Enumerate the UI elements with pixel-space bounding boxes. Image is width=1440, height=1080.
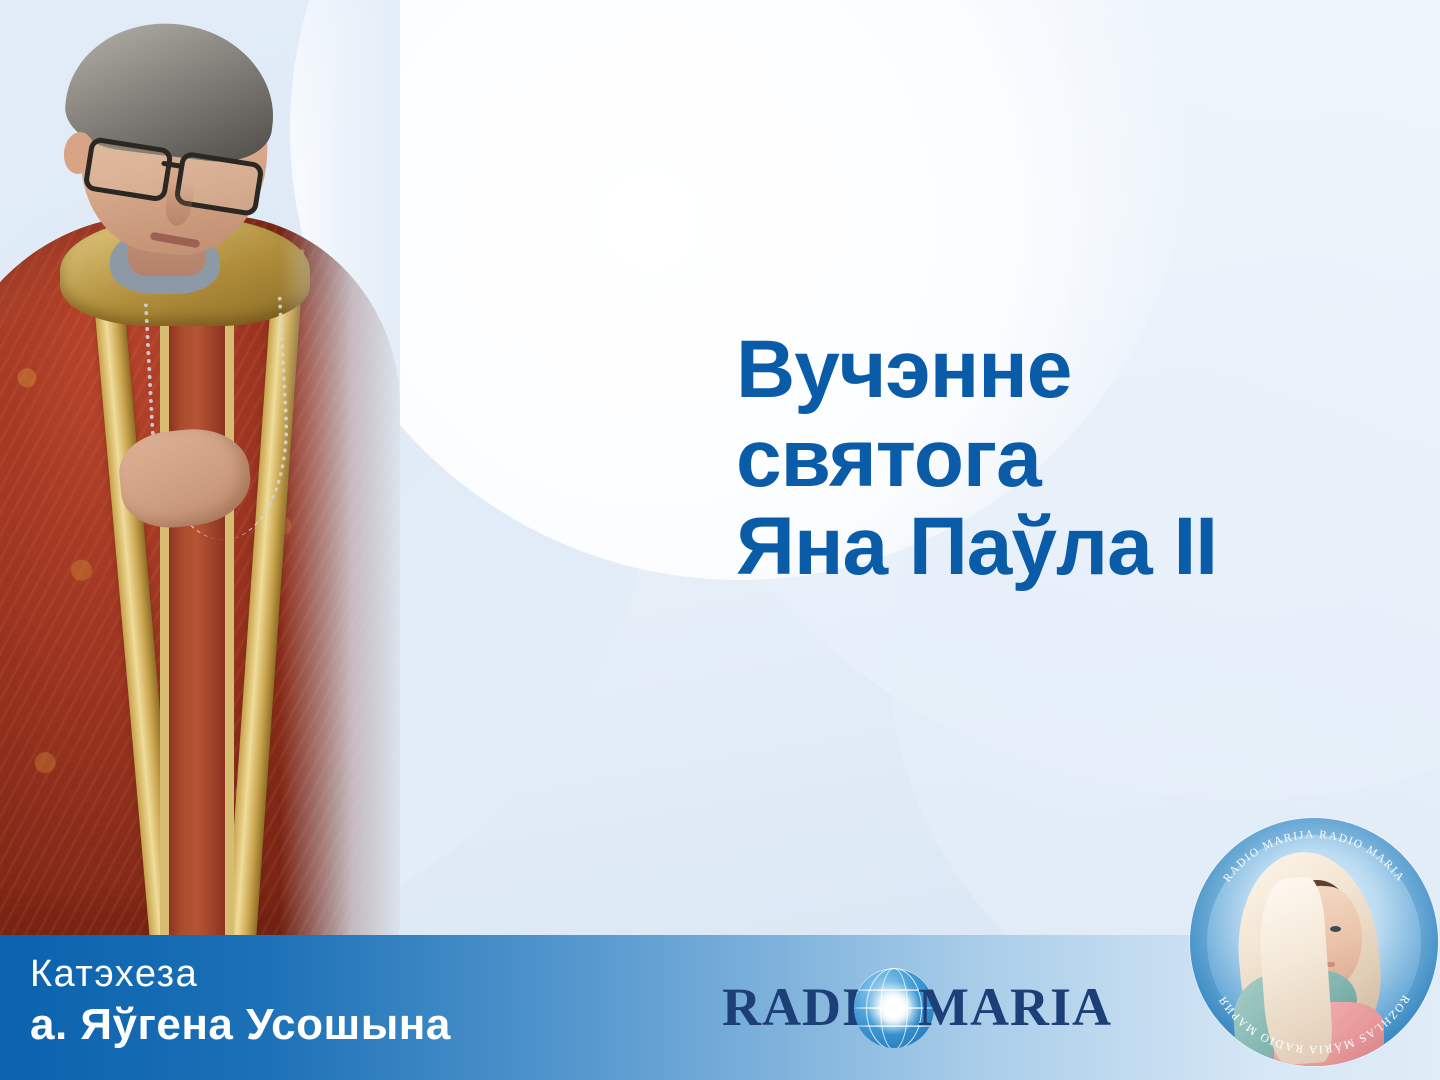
emblem-rim-bottom-label: ROZHLAS MÁRIA RADIO МАРИЯ	[1216, 993, 1411, 1056]
emblem-rim-top-label: RADIO MARIJA RADIO MARIA	[1221, 829, 1407, 885]
globe-flare	[867, 981, 921, 1035]
emblem-rim-bottom-text: ROZHLAS MÁRIA RADIO МАРИЯ	[1216, 993, 1411, 1056]
title-line-1: Вучэнне	[736, 326, 1396, 415]
madonna-emblem: RADIO MARIJA RADIO MARIA ROZHLAS MÁRIA R…	[1190, 818, 1438, 1066]
credit-role: Катэхеза	[30, 953, 451, 997]
title-line-3: Яна Паўла II	[736, 503, 1396, 592]
credit-name: а. Яўгена Усошына	[30, 999, 451, 1052]
priest-photo	[0, 0, 400, 945]
radio-maria-word-right: MARIA	[918, 976, 1112, 1038]
credit-block: Катэхеза а. Яўгена Усошына	[30, 953, 451, 1051]
slide-canvas: Вучэнне святога Яна Паўла II Катэхеза а.…	[0, 0, 1440, 1080]
emblem-rim-text: RADIO MARIJA RADIO MARIA ROZHLAS MÁRIA R…	[1190, 818, 1438, 1066]
photo-edge-fade	[280, 0, 400, 945]
title-line-2: святога	[736, 415, 1396, 504]
radio-maria-logo: RADIO MARIA	[722, 968, 1112, 1044]
emblem-rim-top-text: RADIO MARIJA RADIO MARIA	[1221, 829, 1407, 885]
page-title: Вучэнне святога Яна Паўла II	[736, 326, 1396, 592]
